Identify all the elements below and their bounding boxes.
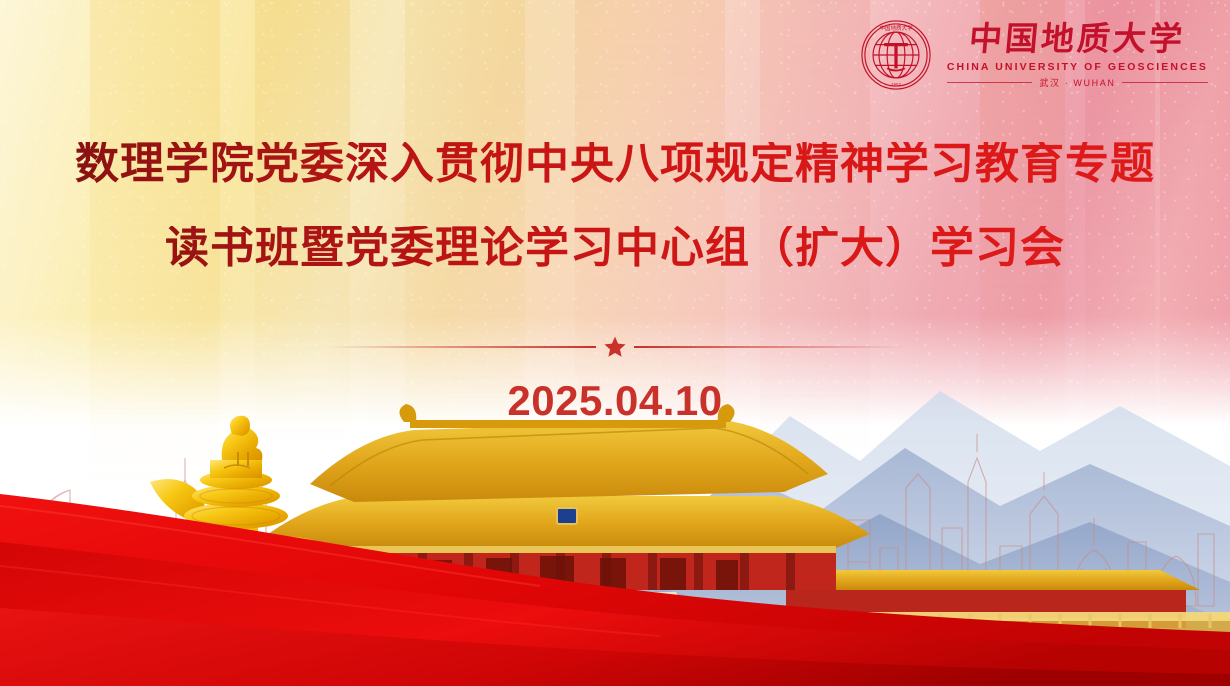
university-logo: 中国地质大学 1952 中国地质大学 CHINA UNIVERSITY OF G…: [859, 18, 1208, 92]
logo-rule-left: [947, 82, 1033, 83]
logo-name-cn: 中国地质大学: [968, 21, 1187, 58]
geosciences-seal-icon: 中国地质大学 1952: [859, 18, 933, 92]
logo-name-en: CHINA UNIVERSITY OF GEOSCIENCES: [947, 61, 1208, 73]
title-block: 数理学院党委深入贯彻中央八项规定精神学习教育专题 读书班暨党委理论学习中心组（扩…: [0, 142, 1230, 270]
title-line-2: 读书班暨党委理论学习中心组（扩大）学习会: [0, 226, 1230, 270]
divider-rule-left: [326, 346, 596, 348]
star-divider: [326, 334, 904, 360]
svg-text:1952: 1952: [891, 82, 901, 87]
title-line-1: 数理学院党委深入贯彻中央八项规定精神学习教育专题: [0, 142, 1230, 186]
event-date: 2025.04.10: [0, 377, 1230, 425]
svg-text:中国地质大学: 中国地质大学: [879, 24, 913, 32]
five-pointed-star-icon: [603, 335, 627, 359]
logo-campus: 武汉 · WUHAN: [1039, 76, 1115, 89]
divider-rule-right: [634, 346, 904, 348]
poster-canvas: 中国地质大学 1952 中国地质大学 CHINA UNIVERSITY OF G…: [0, 0, 1230, 686]
logo-campus-row: 武汉 · WUHAN: [947, 76, 1208, 89]
logo-rule-right: [1122, 82, 1208, 83]
